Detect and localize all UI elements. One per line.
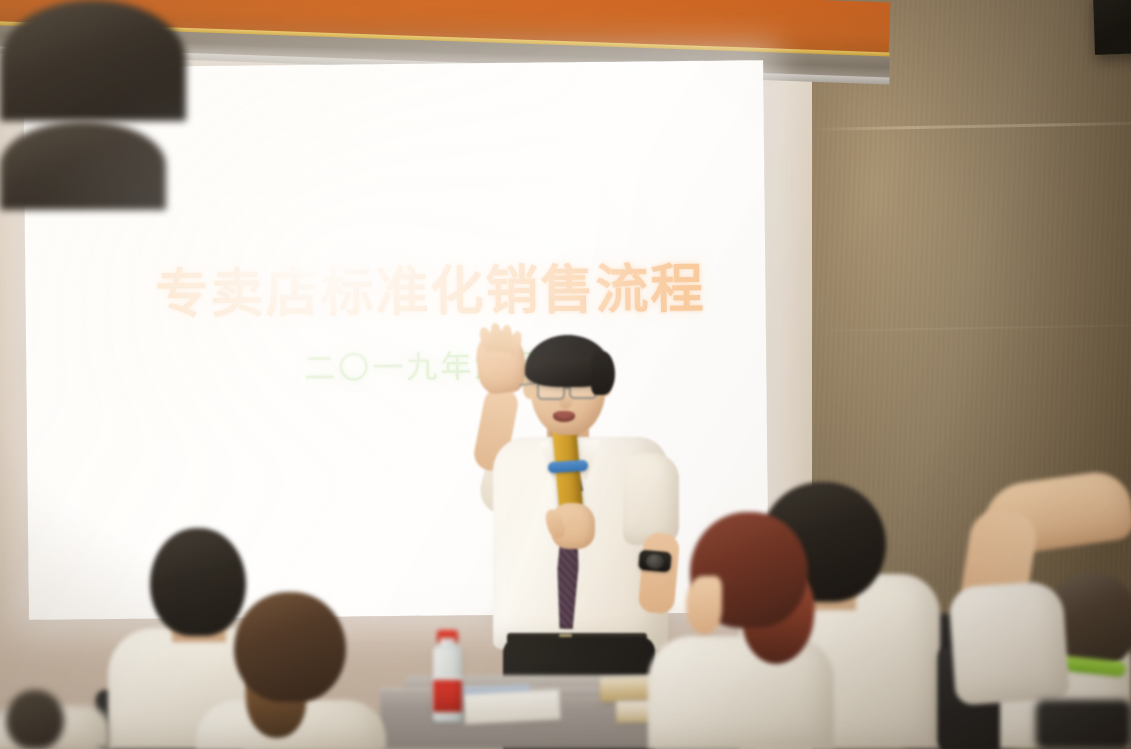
glasses-bridge [564,387,571,389]
water-bottle-label [433,680,462,712]
attendee-shirt-sleeve [948,580,1070,706]
attendee-center-front-head [0,121,166,210]
slide-title: 专卖店标准化销售流程 [155,261,676,324]
presenter-hair-side [591,351,615,395]
chair [1036,700,1131,749]
attendee-ponytail-woman-head [234,592,346,702]
presenter [455,325,705,645]
presenter-mouth [553,411,575,422]
presenter-right-forearm [638,532,681,615]
attendee-far-left-head [6,690,64,749]
attendee-bottom-center-head [0,0,186,121]
presenter-right-sleeve [623,453,679,545]
attendee-auburn-woman-face [686,576,722,634]
paper-sheet [463,690,560,725]
photo-scene: 专卖店标准化销售流程 二〇一九年六月 [0,0,1131,749]
attendee-auburn-woman-body [648,636,834,749]
wall-mounted-monitor [1093,0,1131,55]
attendee-left-man-head [150,528,246,636]
